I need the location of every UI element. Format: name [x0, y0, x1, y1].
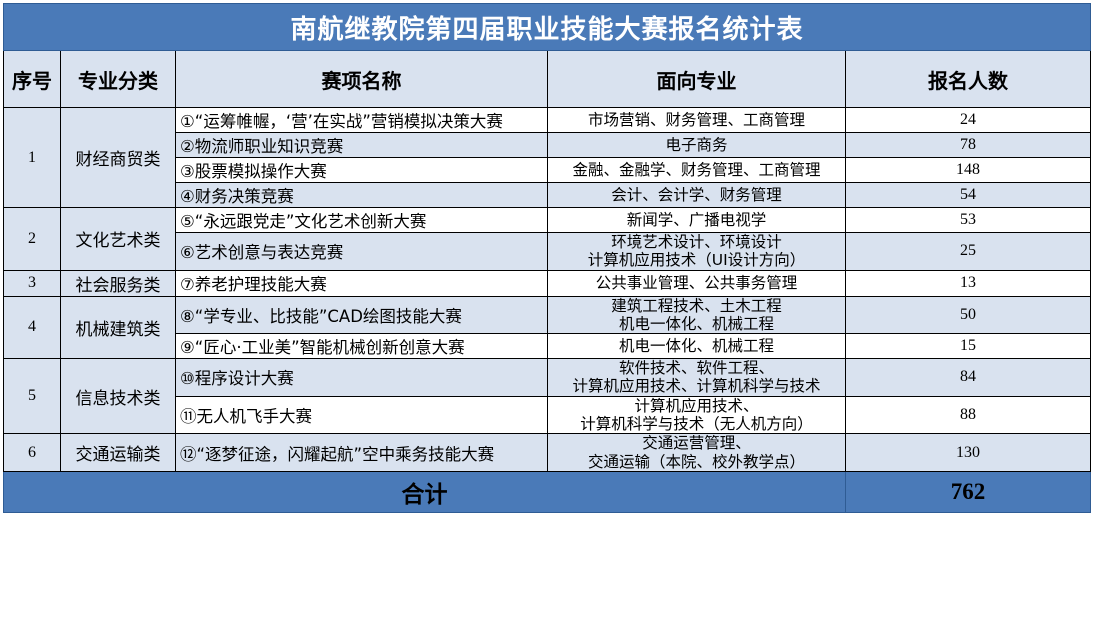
spreadsheet-canvas: 南航继教院第四届职业技能大赛报名统计表 序号 专业分类 赛项名称 面向专业 报名… [0, 0, 1095, 632]
cell-event-name: ⑤“永远跟党走”文化艺术创新大赛 [176, 208, 548, 233]
cell-count: 13 [846, 270, 1091, 296]
majors-line-2: 计算机科学与技术（无人机方向） [552, 415, 841, 433]
majors-line-2: 交通运输（本院、校外教学点） [552, 453, 841, 471]
cell-majors: 市场营销、财务管理、工商管理 [548, 108, 846, 133]
cell-event-name: ⑨“匠心·工业美”智能机械创新创意大赛 [176, 334, 548, 359]
cell-count: 24 [846, 108, 1091, 133]
cell-event-name: ①“运筹帷幄，‘营’在实战”营销模拟决策大赛 [176, 108, 548, 133]
majors-line-1: 金融、金融学、财务管理、工商管理 [552, 161, 841, 179]
cell-category: 信息技术类 [61, 359, 176, 434]
total-label: 合计 [4, 471, 846, 512]
cell-event-name: ⑦养老护理技能大赛 [176, 270, 548, 296]
cell-event-name: ③股票模拟操作大赛 [176, 158, 548, 183]
cell-count: 84 [846, 359, 1091, 397]
cell-seq: 2 [4, 208, 61, 271]
majors-line-1: 公共事业管理、公共事务管理 [552, 274, 841, 292]
majors-line-1: 建筑工程技术、土木工程 [552, 297, 841, 315]
majors-line-1: 环境艺术设计、环境设计 [552, 233, 841, 251]
cell-count: 15 [846, 334, 1091, 359]
cell-majors: 交通运营管理、交通运输（本院、校外教学点） [548, 434, 846, 472]
cell-seq: 1 [4, 108, 61, 208]
cell-count: 148 [846, 158, 1091, 183]
cell-majors: 会计、会计学、财务管理 [548, 183, 846, 208]
cell-count: 130 [846, 434, 1091, 472]
cell-seq: 6 [4, 434, 61, 472]
cell-category: 文化艺术类 [61, 208, 176, 271]
cell-event-name: ②物流师职业知识竞赛 [176, 133, 548, 158]
cell-event-name: ⑩程序设计大赛 [176, 359, 548, 397]
cell-count: 88 [846, 396, 1091, 434]
cell-category: 机械建筑类 [61, 296, 176, 359]
cell-category: 财经商贸类 [61, 108, 176, 208]
cell-seq: 5 [4, 359, 61, 434]
cell-majors: 建筑工程技术、土木工程机电一体化、机械工程 [548, 296, 846, 334]
majors-line-1: 会计、会计学、财务管理 [552, 186, 841, 204]
cell-majors: 电子商务 [548, 133, 846, 158]
majors-line-1: 计算机应用技术、 [552, 397, 841, 415]
table-row: 6交通运输类⑫“逐梦征途，闪耀起航”空中乘务技能大赛交通运营管理、交通运输（本院… [4, 434, 1091, 472]
column-header-event-name: 赛项名称 [176, 51, 548, 108]
majors-line-1: 软件技术、软件工程、 [552, 359, 841, 377]
table-header-row: 序号 专业分类 赛项名称 面向专业 报名人数 [4, 51, 1091, 108]
column-header-majors: 面向专业 [548, 51, 846, 108]
majors-line-1: 新闻学、广播电视学 [552, 211, 841, 229]
cell-majors: 计算机应用技术、计算机科学与技术（无人机方向） [548, 396, 846, 434]
cell-category: 交通运输类 [61, 434, 176, 472]
table-title-row: 南航继教院第四届职业技能大赛报名统计表 [4, 4, 1091, 51]
cell-count: 78 [846, 133, 1091, 158]
majors-line-1: 交通运营管理、 [552, 434, 841, 452]
cell-seq: 4 [4, 296, 61, 359]
cell-count: 53 [846, 208, 1091, 233]
table-row: 3社会服务类⑦养老护理技能大赛公共事业管理、公共事务管理13 [4, 270, 1091, 296]
page-title: 南航继教院第四届职业技能大赛报名统计表 [4, 4, 1091, 51]
majors-line-1: 机电一体化、机械工程 [552, 337, 841, 355]
cell-majors: 环境艺术设计、环境设计计算机应用技术（UI设计方向） [548, 233, 846, 271]
cell-event-name: ⑥艺术创意与表达竞赛 [176, 233, 548, 271]
cell-majors: 金融、金融学、财务管理、工商管理 [548, 158, 846, 183]
cell-count: 54 [846, 183, 1091, 208]
cell-seq: 3 [4, 270, 61, 296]
cell-majors: 新闻学、广播电视学 [548, 208, 846, 233]
cell-event-name: ⑪无人机飞手大赛 [176, 396, 548, 434]
cell-event-name: ④财务决策竞赛 [176, 183, 548, 208]
cell-event-name: ⑫“逐梦征途，闪耀起航”空中乘务技能大赛 [176, 434, 548, 472]
majors-line-2: 计算机应用技术、计算机科学与技术 [552, 377, 841, 395]
majors-line-2: 计算机应用技术（UI设计方向） [552, 251, 841, 269]
table-row: 5信息技术类⑩程序设计大赛软件技术、软件工程、计算机应用技术、计算机科学与技术8… [4, 359, 1091, 397]
table-row: 2文化艺术类⑤“永远跟党走”文化艺术创新大赛新闻学、广播电视学53 [4, 208, 1091, 233]
cell-event-name: ⑧“学专业、比技能”CAD绘图技能大赛 [176, 296, 548, 334]
table-row: 1财经商贸类①“运筹帷幄，‘营’在实战”营销模拟决策大赛市场营销、财务管理、工商… [4, 108, 1091, 133]
column-header-category: 专业分类 [61, 51, 176, 108]
column-header-count: 报名人数 [846, 51, 1091, 108]
majors-line-1: 电子商务 [552, 136, 841, 154]
cell-majors: 软件技术、软件工程、计算机应用技术、计算机科学与技术 [548, 359, 846, 397]
total-value: 762 [846, 471, 1091, 512]
majors-line-1: 市场营销、财务管理、工商管理 [552, 111, 841, 129]
cell-count: 25 [846, 233, 1091, 271]
majors-line-2: 机电一体化、机械工程 [552, 315, 841, 333]
cell-majors: 公共事业管理、公共事务管理 [548, 270, 846, 296]
table-total-row: 合计762 [4, 471, 1091, 512]
column-header-seq: 序号 [4, 51, 61, 108]
cell-category: 社会服务类 [61, 270, 176, 296]
registration-statistics-table: 南航继教院第四届职业技能大赛报名统计表 序号 专业分类 赛项名称 面向专业 报名… [3, 3, 1091, 513]
table-row: 4机械建筑类⑧“学专业、比技能”CAD绘图技能大赛建筑工程技术、土木工程机电一体… [4, 296, 1091, 334]
cell-majors: 机电一体化、机械工程 [548, 334, 846, 359]
cell-count: 50 [846, 296, 1091, 334]
